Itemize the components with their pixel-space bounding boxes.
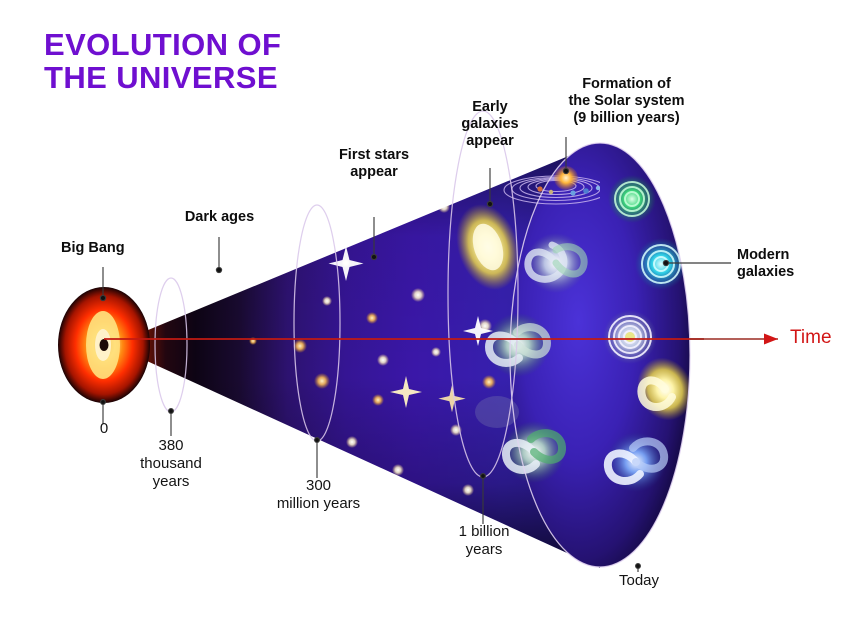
label-dark-ages: Dark ages bbox=[162, 209, 277, 226]
galaxy-blue bbox=[606, 432, 666, 492]
galaxy-green bbox=[608, 175, 656, 223]
galaxy-spiral-mid-1 bbox=[526, 233, 586, 293]
galaxy-white-spiral bbox=[603, 310, 657, 364]
label-early-galaxies: Early galaxies appear bbox=[440, 99, 540, 150]
timeline-label-1b: 1 billion years bbox=[443, 523, 525, 559]
page-title: EVOLUTION OF THE UNIVERSE bbox=[44, 28, 281, 95]
label-big-bang: Big Bang bbox=[61, 240, 171, 257]
timeline-label-today: Today bbox=[600, 572, 678, 590]
label-solar-system: Formation of the Solar system (9 billion… bbox=[544, 76, 709, 127]
big-bang-burst bbox=[58, 287, 150, 403]
diagram-canvas: EVOLUTION OF THE UNIVERSE Big Bang Dark … bbox=[0, 0, 860, 632]
timeline-label-380k: 380 thousand years bbox=[131, 437, 211, 491]
label-modern-galaxies: Modern galaxies bbox=[737, 247, 847, 281]
label-first-stars: First stars appear bbox=[314, 147, 434, 181]
galaxy-cyan bbox=[635, 238, 687, 290]
timeline-label-300m: 300 million years bbox=[261, 477, 376, 513]
galaxy-spiral-mid-3 bbox=[503, 421, 565, 483]
time-axis-label: Time bbox=[790, 327, 832, 349]
timeline-label-0: 0 bbox=[85, 420, 123, 438]
